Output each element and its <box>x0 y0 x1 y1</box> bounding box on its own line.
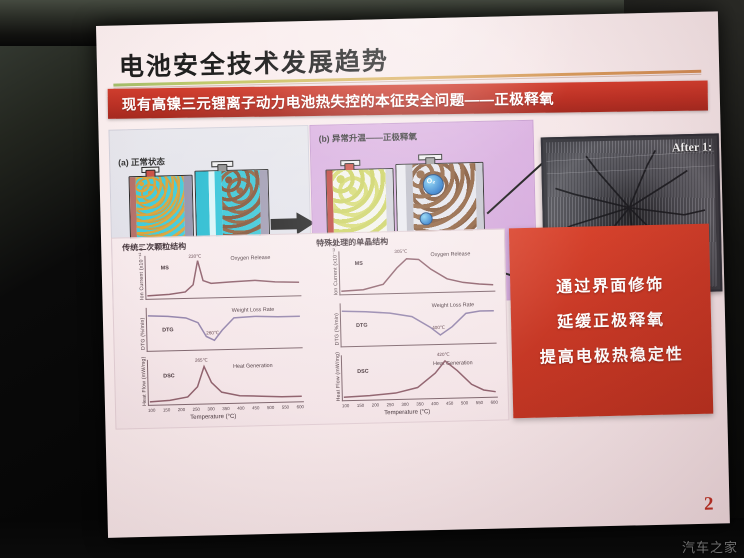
chart-left-title: 传统二次颗粒结构 <box>122 241 186 254</box>
xtick: 150 <box>357 403 364 408</box>
xtick: 200 <box>372 402 379 407</box>
xtick: 100 <box>342 403 349 408</box>
subplot-ms-right: Ion Current (x10⁻¹² A) MS 305℃ Oxygen Re… <box>338 248 495 296</box>
xtick: 600 <box>297 404 304 409</box>
chart-right-title: 特殊处理的单晶结构 <box>316 236 388 249</box>
curve-dtg-right <box>340 300 497 348</box>
curve-ms-right <box>338 248 495 296</box>
sem-title: After 1: <box>672 140 712 156</box>
transition-arrow-icon <box>270 213 314 234</box>
xtick: 550 <box>282 405 289 410</box>
xtick: 300 <box>207 406 214 411</box>
banner-text: 现有高镍三元锂离子动力电池热失控的本征安全问题——正极释氧 <box>122 88 554 115</box>
watermark: 汽车之家 <box>682 537 738 556</box>
photo-of-presentation-slide: 电池安全技术发展趋势 现有高镍三元锂离子动力电池热失控的本征安全问题——正极释氧… <box>0 0 744 558</box>
xtick: 550 <box>476 400 483 405</box>
xtick: 450 <box>252 405 259 410</box>
curve-dsc-right <box>341 352 498 402</box>
xtick: 450 <box>446 401 453 406</box>
conclusion-line-1: 通过界面修饰 <box>510 270 711 299</box>
slide-number: 2 <box>704 494 714 516</box>
curve-dsc-left <box>147 356 304 406</box>
xtick: 400 <box>431 401 438 406</box>
panel-b-label: (b) 异常升温——正极释氧 <box>319 130 417 144</box>
xlabel-right: Temperature (°C) <box>384 409 430 416</box>
xticks-right: 100 150 200 250 300 350 400 450 500 550 … <box>342 400 498 409</box>
o2-bubble-label: O₂ <box>427 178 436 185</box>
xtick: 350 <box>222 406 229 411</box>
subplot-ms-left: Ion Current (x10⁻¹² A) MS 230℃ Oxygen Re… <box>144 252 301 300</box>
xtick: 250 <box>193 407 200 412</box>
xtick: 100 <box>148 408 155 413</box>
conclusion-box: 通过界面修饰 延缓正极释氧 提高电极热稳定性 <box>509 224 713 419</box>
conclusion-line-3: 提高电极热稳定性 <box>512 340 713 369</box>
curve-dtg-left <box>146 304 303 352</box>
chart-column-single-crystal: 特殊处理的单晶结构 Ion Current (x10⁻¹² A) MS 305℃… <box>308 229 508 424</box>
projection-screen: 电池安全技术发展趋势 现有高镍三元锂离子动力电池热失控的本征安全问题——正极释氧… <box>96 11 730 538</box>
xtick: 400 <box>237 406 244 411</box>
xtick: 150 <box>163 407 170 412</box>
subplot-dtg-left: DTG (%/min) DTG 260℃ Weight Loss Rate <box>146 304 303 352</box>
xtick: 500 <box>267 405 274 410</box>
conclusion-line-2: 延缓正极释氧 <box>511 305 712 334</box>
subplot-dtg-right: DTG (%/min) DTG 400℃ Weight Loss Rate <box>340 300 497 348</box>
xtick: 600 <box>491 400 498 405</box>
xtick: 500 <box>461 400 468 405</box>
subplot-dsc-right: Heat Flow (mW/mg) DSC 420℃ Heat Generati… <box>341 352 498 402</box>
xticks-left: 100 150 200 250 300 350 400 450 500 550 … <box>148 404 304 413</box>
thermal-analysis-charts: 传统二次颗粒结构 Ion Current (x10⁻¹² A) MS 230℃ … <box>111 228 509 429</box>
subplot-dsc-left: Heat Flow (mW/mg) DSC 265℃ Heat Generati… <box>147 356 304 406</box>
curve-ms-left <box>144 252 301 300</box>
xtick: 200 <box>178 407 185 412</box>
slide-surface: 电池安全技术发展趋势 现有高镍三元锂离子动力电池热失控的本征安全问题——正极释氧… <box>96 11 730 538</box>
xtick: 250 <box>387 402 394 407</box>
xtick: 300 <box>401 402 408 407</box>
chart-column-conventional: 传统二次颗粒结构 Ion Current (x10⁻¹² A) MS 230℃ … <box>114 234 314 429</box>
xtick: 350 <box>416 401 423 406</box>
xlabel-left: Temperature (°C) <box>190 414 236 421</box>
